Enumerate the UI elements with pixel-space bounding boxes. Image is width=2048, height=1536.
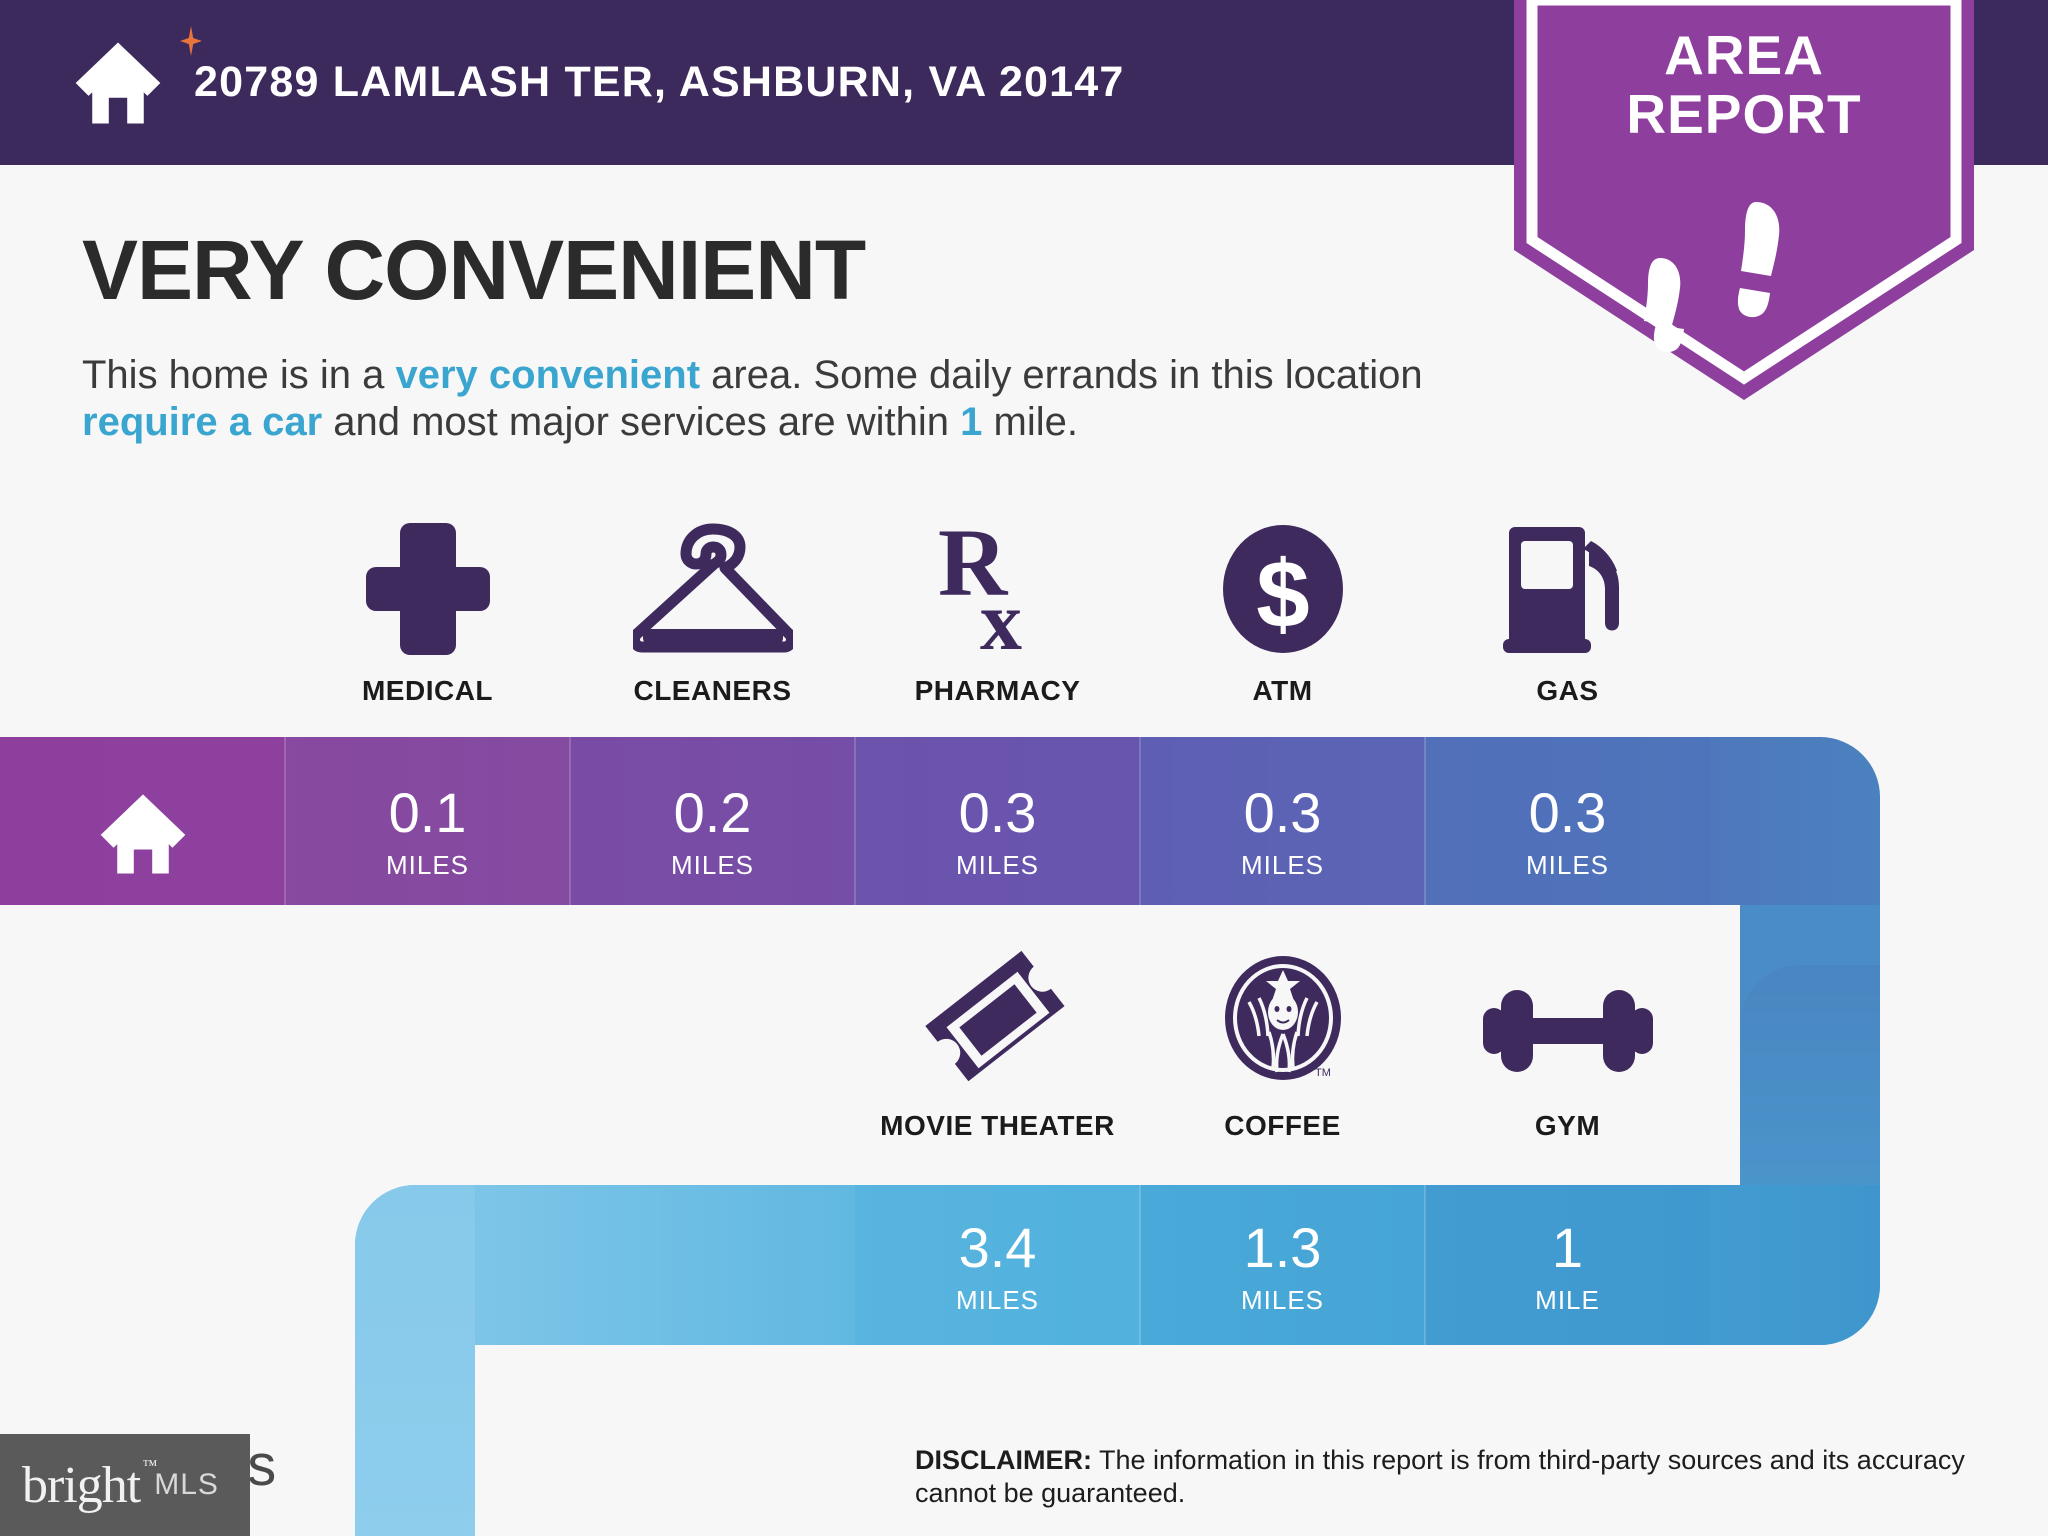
distance-value: 1.3 xyxy=(1244,1220,1322,1276)
amenity-movie-theater: MOVIE THEATER xyxy=(855,955,1140,1142)
home-marker-cell xyxy=(0,755,285,910)
distance-cell: 0.2 MILES xyxy=(570,755,855,910)
distance-row-2: 3.4 MILES 1.3 MILES 1 MILE xyxy=(855,1190,1710,1345)
movie-ticket-icon xyxy=(923,950,1073,1090)
amenity-medical: MEDICAL xyxy=(285,520,570,707)
distance-unit: MILES xyxy=(1241,1285,1324,1316)
trademark-icon: ™ xyxy=(143,1458,157,1475)
badge-line-1: AREA xyxy=(1514,26,1974,85)
distance-cell: 3.4 MILES xyxy=(855,1190,1140,1345)
badge-line-2: REPORT xyxy=(1514,85,1974,144)
home-icon xyxy=(72,37,164,129)
distance-unit: MILES xyxy=(956,850,1039,881)
area-report-badge: AREA REPORT xyxy=(1514,0,1974,400)
distance-unit: MILES xyxy=(1526,850,1609,881)
amenity-pharmacy: R x PHARMACY xyxy=(855,520,1140,707)
amenity-row-1: MEDICAL CLEANERS R x PHARMACY $ ATM GAS xyxy=(285,520,1710,707)
amenity-cleaners: CLEANERS xyxy=(570,520,855,707)
amenity-label: MEDICAL xyxy=(362,675,493,707)
amenity-label: COFFEE xyxy=(1224,1110,1341,1142)
disclaimer-label: DISCLAIMER: xyxy=(915,1445,1092,1475)
distance-value: 0.2 xyxy=(674,785,752,841)
amenity-gas: GAS xyxy=(1425,520,1710,707)
amenity-coffee: TM COFFEE xyxy=(1140,955,1425,1142)
amenity-label: ATM xyxy=(1252,675,1312,707)
amenity-label: PHARMACY xyxy=(915,675,1081,707)
svg-text:$: $ xyxy=(1256,541,1309,648)
distance-cell: 1 MILE xyxy=(1425,1190,1710,1345)
distance-value: 0.3 xyxy=(1244,785,1322,841)
brand-suffix: MLS xyxy=(154,1468,219,1502)
distance-value: 3.4 xyxy=(959,1220,1037,1276)
distance-cell: 1.3 MILES xyxy=(1140,1190,1425,1345)
amenity-label: MOVIE THEATER xyxy=(880,1110,1115,1142)
distance-unit: MILES xyxy=(386,850,469,881)
distance-cell: 0.3 MILES xyxy=(1425,755,1710,910)
dollar-circle-icon: $ xyxy=(1220,523,1346,655)
coffee-siren-icon: TM xyxy=(1219,954,1347,1090)
distance-row-1: 0.1 MILES 0.2 MILES 0.3 MILES 0.3 MILES … xyxy=(285,755,1710,910)
distance-unit: MILE xyxy=(1535,1285,1600,1316)
distance-value: 1 xyxy=(1552,1220,1583,1276)
distance-unit: MILES xyxy=(956,1285,1039,1316)
amenity-label: GYM xyxy=(1535,1110,1600,1142)
gas-pump-icon xyxy=(1503,523,1633,655)
clothes-hanger-icon xyxy=(633,523,793,655)
amenity-row-2: MOVIE THEATER TM COFFEE xyxy=(855,955,1710,1142)
medical-cross-icon xyxy=(366,523,490,655)
dumbbell-icon xyxy=(1483,972,1653,1090)
amenity-atm: $ ATM xyxy=(1140,520,1425,707)
distance-cell: 0.3 MILES xyxy=(1140,755,1425,910)
svg-text:TM: TM xyxy=(1315,1067,1331,1079)
disclaimer: DISCLAIMER: The information in this repo… xyxy=(915,1444,1975,1511)
home-icon xyxy=(97,787,189,879)
amenity-label: CLEANERS xyxy=(633,675,791,707)
brightmls-logo: bright™ MLS xyxy=(0,1434,250,1536)
distance-cell: 0.3 MILES xyxy=(855,755,1140,910)
distance-value: 0.1 xyxy=(389,785,467,841)
distance-value: 0.3 xyxy=(1529,785,1607,841)
distance-unit: MILES xyxy=(671,850,754,881)
amenity-gym: GYM xyxy=(1425,955,1710,1142)
brand-name: bright™ xyxy=(22,1456,140,1515)
distance-cell: 0.1 MILES xyxy=(285,755,570,910)
distance-value: 0.3 xyxy=(959,785,1037,841)
rx-prescription-icon: R x xyxy=(938,523,1058,655)
amenity-label: GAS xyxy=(1536,675,1598,707)
distance-unit: MILES xyxy=(1241,850,1324,881)
svg-text:x: x xyxy=(980,575,1022,655)
badge-label: AREA REPORT xyxy=(1514,26,1974,144)
brand-word-text: bright xyxy=(22,1457,140,1514)
property-address: 20789 LAMLASH TER, ASHBURN, VA 20147 xyxy=(194,58,1125,107)
